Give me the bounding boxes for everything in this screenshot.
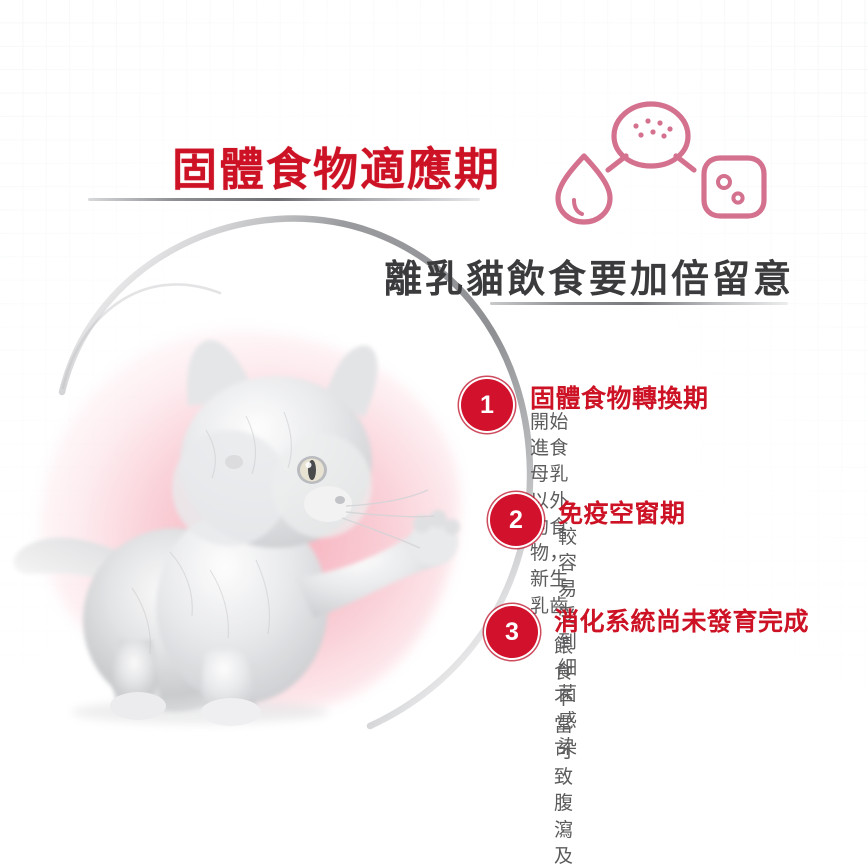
page-subtitle: 離乳貓飲食要加倍留意 bbox=[384, 248, 794, 303]
list-item-title: 消化系統尚未發育完成 bbox=[554, 602, 809, 638]
subtitle-divider bbox=[490, 302, 788, 305]
step-number-badge: 3 bbox=[486, 606, 538, 658]
food-icon-svg bbox=[552, 96, 768, 232]
page-title: 固體食物適應期 bbox=[172, 133, 501, 198]
title-divider bbox=[88, 198, 480, 201]
kibble-bowl-water-drop-icon bbox=[552, 96, 768, 232]
step-number-badge: 1 bbox=[461, 379, 513, 431]
kitten-illustration bbox=[10, 320, 480, 740]
poster-canvas: 固體食物適應期 離乳貓飲食要加倍留意 1 固體食物轉換期 開始進食母乳以外的食物… bbox=[0, 0, 868, 868]
kitten-svg bbox=[10, 320, 480, 740]
step-number-badge: 2 bbox=[490, 494, 542, 546]
pink-background-blob bbox=[40, 330, 460, 710]
list-item-description: 餵食不當可致腹瀉及軟便 bbox=[554, 634, 573, 868]
